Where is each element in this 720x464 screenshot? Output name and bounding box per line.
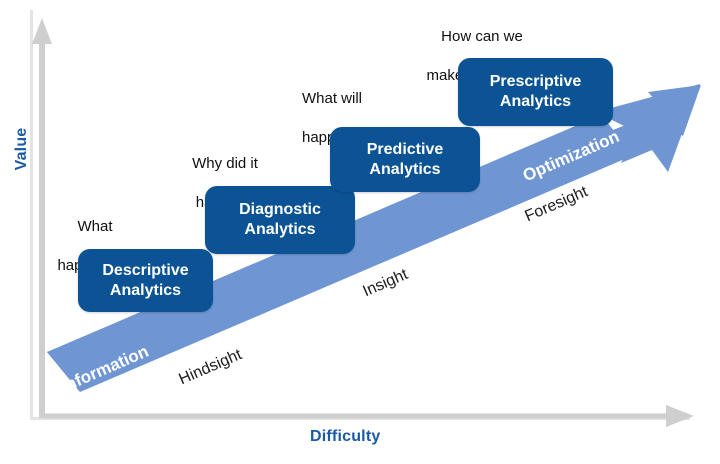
box-prescriptive-analytics-text: Prescriptive Analytics — [490, 72, 582, 112]
box-diagnostic-analytics[interactable]: Diagnostic Analytics — [205, 186, 355, 254]
y-axis-label: Value — [13, 119, 31, 179]
stage-label-insight: Insight — [360, 266, 410, 301]
box-diagnostic-line1: Diagnostic — [239, 201, 321, 218]
box-prescriptive-line2: Analytics — [500, 93, 571, 110]
band-label-information: Information — [58, 342, 152, 398]
box-descriptive-analytics[interactable]: Descriptive Analytics — [78, 249, 213, 312]
box-predictive-line1: Predictive — [367, 141, 443, 158]
box-descriptive-line2: Analytics — [110, 282, 181, 299]
box-prescriptive-line1: Prescriptive — [490, 73, 582, 90]
box-diagnostic-analytics-text: Diagnostic Analytics — [239, 200, 321, 240]
x-axis-label: Difficulty — [310, 428, 380, 446]
box-prescriptive-analytics[interactable]: Prescriptive Analytics — [458, 58, 613, 126]
question-diagnostic-line1: Why did it — [160, 154, 290, 173]
band-label-optimization: Optimization — [520, 127, 622, 186]
question-descriptive-line1: What — [30, 217, 160, 236]
box-diagnostic-line2: Analytics — [244, 221, 315, 238]
question-prescriptive-line1: How can we — [392, 27, 572, 46]
stage-label-hindsight: Hindsight — [176, 346, 244, 389]
diagram-canvas: Value Difficulty Information Optimizatio… — [0, 0, 720, 464]
box-predictive-line2: Analytics — [369, 161, 440, 178]
box-predictive-analytics[interactable]: Predictive Analytics — [330, 127, 480, 192]
box-descriptive-line1: Descriptive — [102, 262, 188, 279]
box-descriptive-analytics-text: Descriptive Analytics — [102, 261, 188, 301]
box-predictive-analytics-text: Predictive Analytics — [367, 140, 443, 180]
stage-label-foresight: Foresight — [522, 183, 590, 226]
